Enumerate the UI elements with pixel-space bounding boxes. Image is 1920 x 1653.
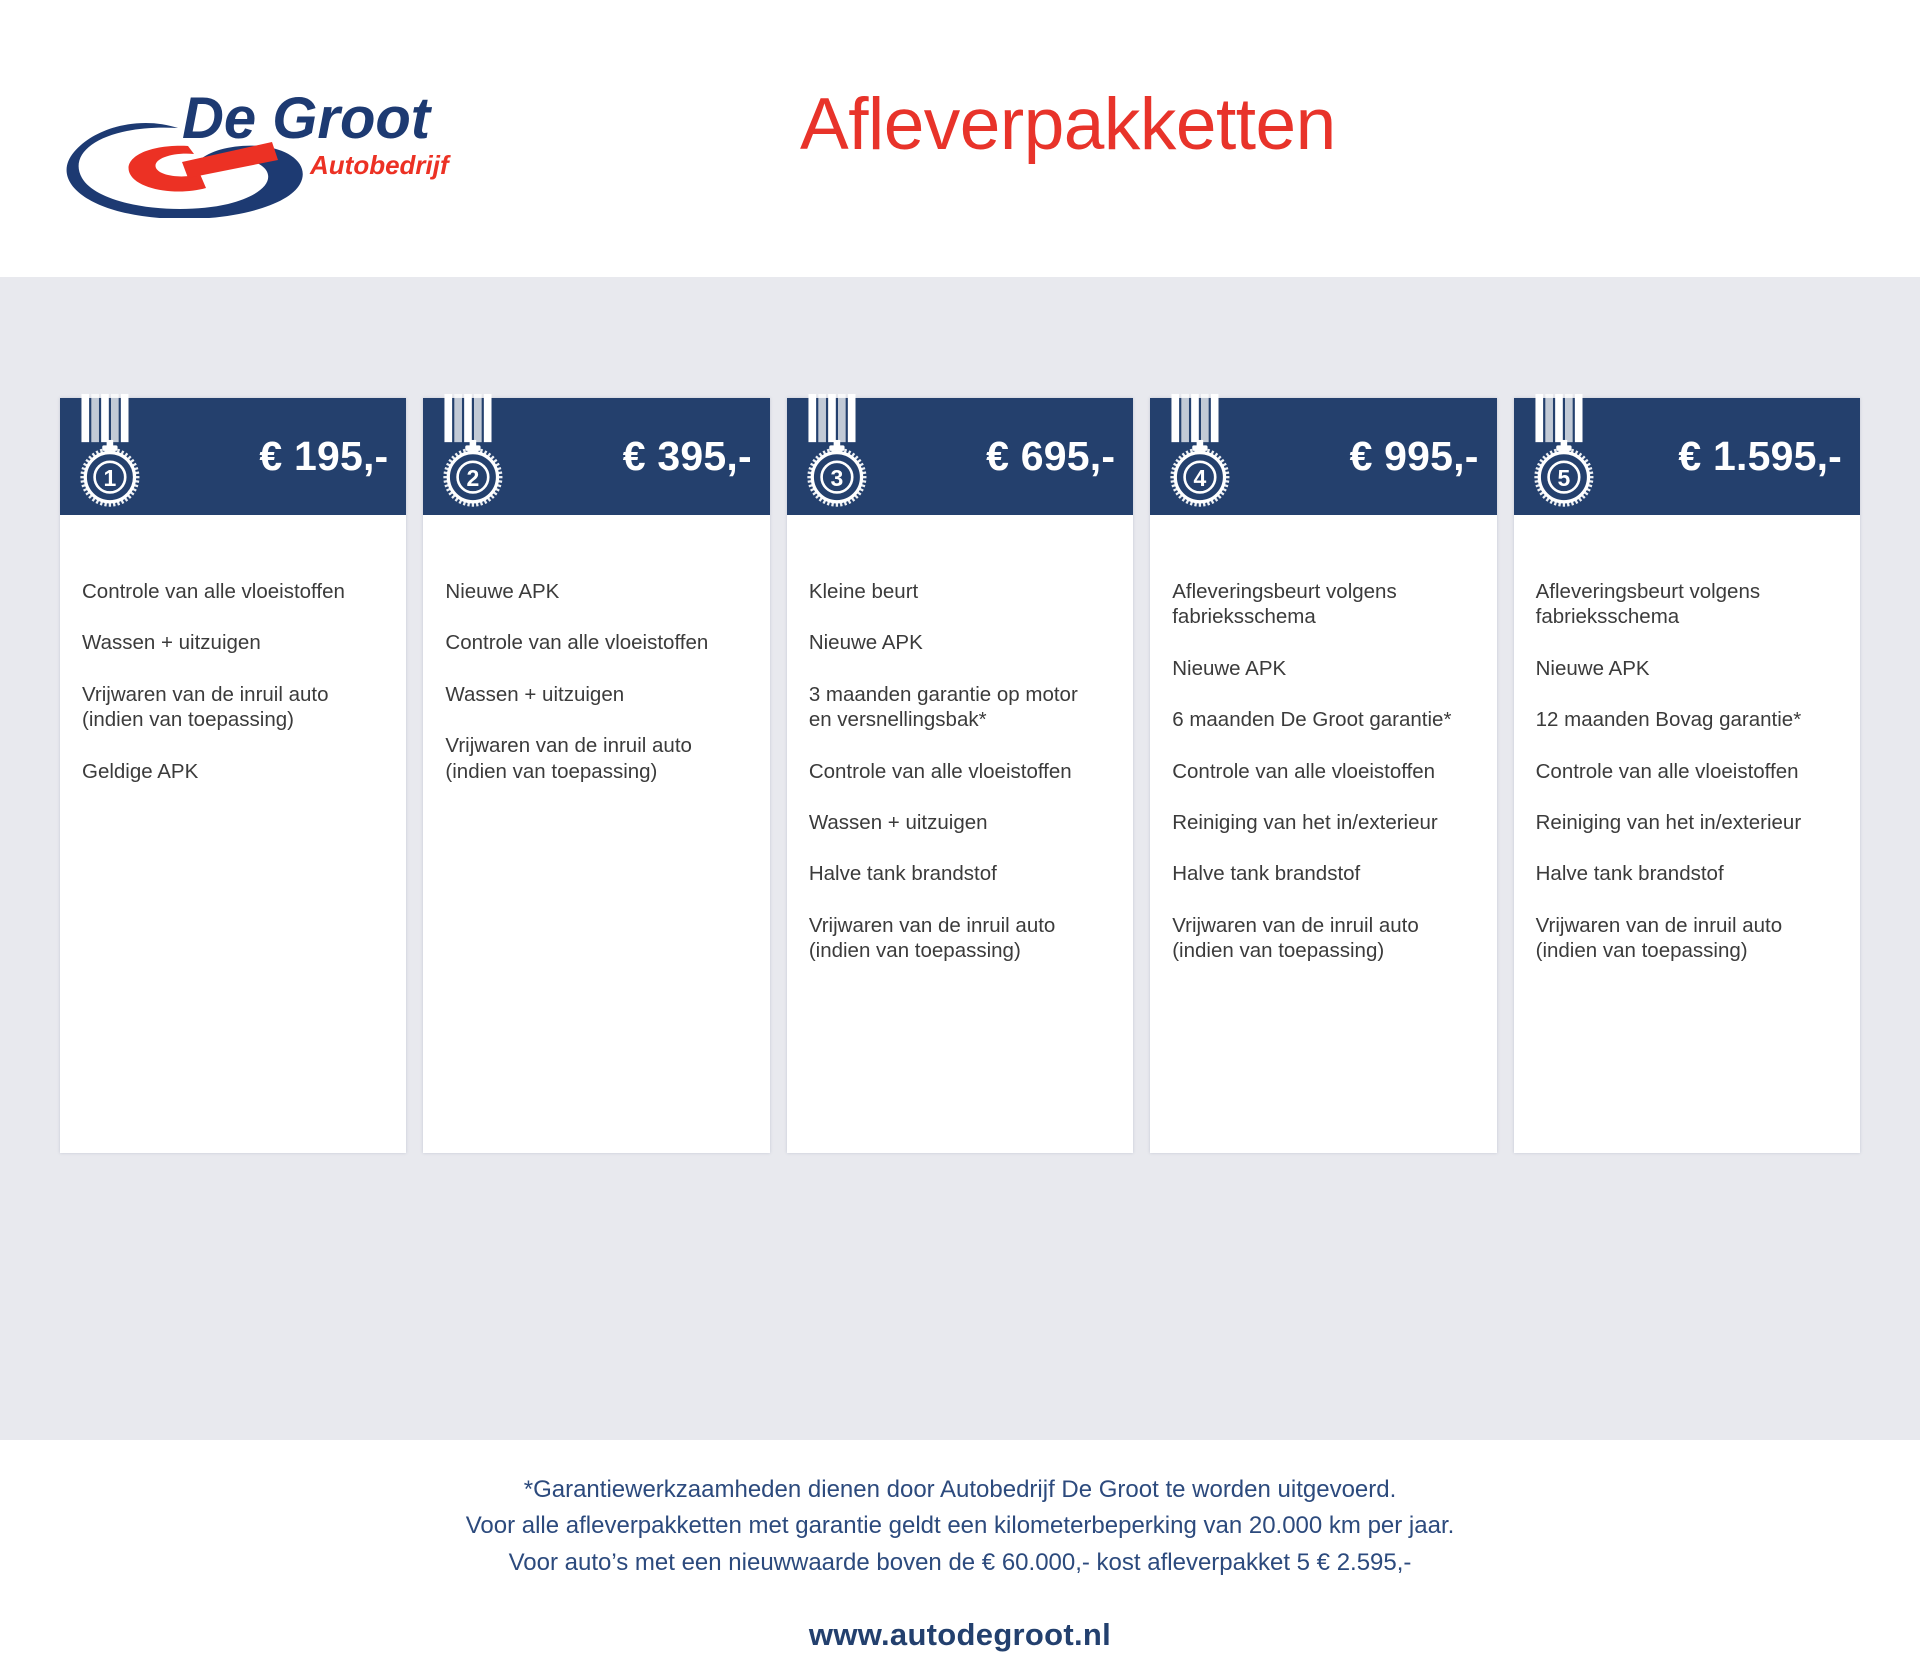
package-card-header: 1€ 195,- xyxy=(60,398,406,515)
medal-rank-number: 4 xyxy=(1194,465,1207,491)
medal-icon: 2 xyxy=(441,394,507,510)
package-feature-item: Nieuwe APK xyxy=(1536,656,1838,681)
medal-rank-number: 5 xyxy=(1557,465,1570,491)
package-feature-item: Geldige APK xyxy=(82,759,384,784)
medal-icon: 2 xyxy=(441,394,507,510)
package-cards-row: 1€ 195,-Controle van alle vloeistoffenWa… xyxy=(60,398,1860,1153)
package-feature-item: Halve tank brandstof xyxy=(1536,861,1838,886)
logo-wordmark-primary: De Groot xyxy=(182,86,433,151)
package-card-header: 3€ 695,- xyxy=(787,398,1133,515)
package-feature-item: Afleveringsbeurt volgens fabrieksschema xyxy=(1172,579,1474,630)
package-feature-item: Vrijwaren van de inruil auto (indien van… xyxy=(1172,913,1474,964)
website-url[interactable]: www.autodegroot.nl xyxy=(0,1617,1920,1653)
medal-icon: 5 xyxy=(1532,394,1598,510)
package-feature-item: Afleveringsbeurt volgens fabrieksschema xyxy=(1536,579,1838,630)
package-feature-item: Halve tank brandstof xyxy=(1172,861,1474,886)
package-feature-item: Controle van alle vloeistoffen xyxy=(809,759,1111,784)
footnotes: *Garantiewerkzaamheden dienen door Autob… xyxy=(0,1472,1920,1581)
package-card[interactable]: 3€ 695,-Kleine beurtNieuwe APK3 maanden … xyxy=(787,398,1133,1153)
medal-rank-number: 2 xyxy=(467,465,480,491)
medal-icon: 4 xyxy=(1168,394,1234,510)
package-card[interactable]: 5€ 1.595,-Afleveringsbeurt volgens fabri… xyxy=(1514,398,1860,1153)
footnote-line: Voor alle afleverpakketten met garantie … xyxy=(0,1508,1920,1544)
package-feature-item: Reiniging van het in/exterieur xyxy=(1172,810,1474,835)
package-card[interactable]: 1€ 195,-Controle van alle vloeistoffenWa… xyxy=(60,398,406,1153)
package-feature-list: Controle van alle vloeistoffenWassen + u… xyxy=(60,515,406,1153)
package-feature-item: 12 maanden Bovag garantie* xyxy=(1536,707,1838,732)
package-feature-item: Halve tank brandstof xyxy=(809,861,1111,886)
package-feature-item: Controle van alle vloeistoffen xyxy=(1172,759,1474,784)
package-feature-item: Nieuwe APK xyxy=(1172,656,1474,681)
page-body: 1€ 195,-Controle van alle vloeistoffenWa… xyxy=(0,277,1920,1440)
medal-icon: 1 xyxy=(78,394,144,510)
footnote-line: *Garantiewerkzaamheden dienen door Autob… xyxy=(0,1472,1920,1508)
package-feature-item: Kleine beurt xyxy=(809,579,1111,604)
logo-wordmark-secondary: Autobedrijf xyxy=(309,150,451,180)
medal-icon: 3 xyxy=(805,394,871,510)
package-feature-item: Controle van alle vloeistoffen xyxy=(445,630,747,655)
package-feature-item: Nieuwe APK xyxy=(809,630,1111,655)
medal-icon: 1 xyxy=(78,394,144,510)
package-feature-list: Nieuwe APKControle van alle vloeistoffen… xyxy=(423,515,769,1153)
package-feature-item: Nieuwe APK xyxy=(445,579,747,604)
medal-icon: 4 xyxy=(1168,394,1234,510)
package-feature-item: Vrijwaren van de inruil auto (indien van… xyxy=(82,682,384,733)
package-card[interactable]: 2€ 395,-Nieuwe APKControle van alle vloe… xyxy=(423,398,769,1153)
top-header-band: De Groot Autobedrijf Afleverpakketten xyxy=(0,0,1920,277)
package-feature-item: Reiniging van het in/exterieur xyxy=(1536,810,1838,835)
package-feature-item: Vrijwaren van de inruil auto (indien van… xyxy=(1536,913,1838,964)
package-feature-list: Afleveringsbeurt volgens fabrieksschemaN… xyxy=(1150,515,1496,1153)
company-logo[interactable]: De Groot Autobedrijf xyxy=(60,86,460,216)
package-feature-item: Controle van alle vloeistoffen xyxy=(82,579,384,604)
package-price: € 195,- xyxy=(259,433,388,480)
package-feature-item: Wassen + uitzuigen xyxy=(809,810,1111,835)
package-feature-item: Vrijwaren van de inruil auto (indien van… xyxy=(445,733,747,784)
package-feature-list: Afleveringsbeurt volgens fabrieksschemaN… xyxy=(1514,515,1860,1153)
package-price: € 395,- xyxy=(623,433,752,480)
footnote-line: Voor auto’s met een nieuwwaarde boven de… xyxy=(0,1545,1920,1581)
package-card-header: 4€ 995,- xyxy=(1150,398,1496,515)
package-feature-item: Vrijwaren van de inruil auto (indien van… xyxy=(809,913,1111,964)
package-feature-item: 3 maanden garantie op motor en versnelli… xyxy=(809,682,1111,733)
de-groot-logo-icon: De Groot Autobedrijf xyxy=(60,86,460,218)
medal-icon: 3 xyxy=(805,394,871,510)
package-price: € 995,- xyxy=(1350,433,1479,480)
medal-icon: 5 xyxy=(1532,394,1598,510)
package-feature-item: Wassen + uitzuigen xyxy=(445,682,747,707)
package-card-header: 5€ 1.595,- xyxy=(1514,398,1860,515)
page-title: Afleverpakketten xyxy=(800,88,1560,161)
medal-rank-number: 3 xyxy=(830,465,843,491)
package-feature-item: 6 maanden De Groot garantie* xyxy=(1172,707,1474,732)
medal-rank-number: 1 xyxy=(104,465,117,491)
package-price: € 695,- xyxy=(986,433,1115,480)
package-card-header: 2€ 395,- xyxy=(423,398,769,515)
package-feature-item: Wassen + uitzuigen xyxy=(82,630,384,655)
package-card[interactable]: 4€ 995,-Afleveringsbeurt volgens fabriek… xyxy=(1150,398,1496,1153)
package-feature-item: Controle van alle vloeistoffen xyxy=(1536,759,1838,784)
package-feature-list: Kleine beurtNieuwe APK3 maanden garantie… xyxy=(787,515,1133,1153)
package-price: € 1.595,- xyxy=(1678,433,1842,480)
